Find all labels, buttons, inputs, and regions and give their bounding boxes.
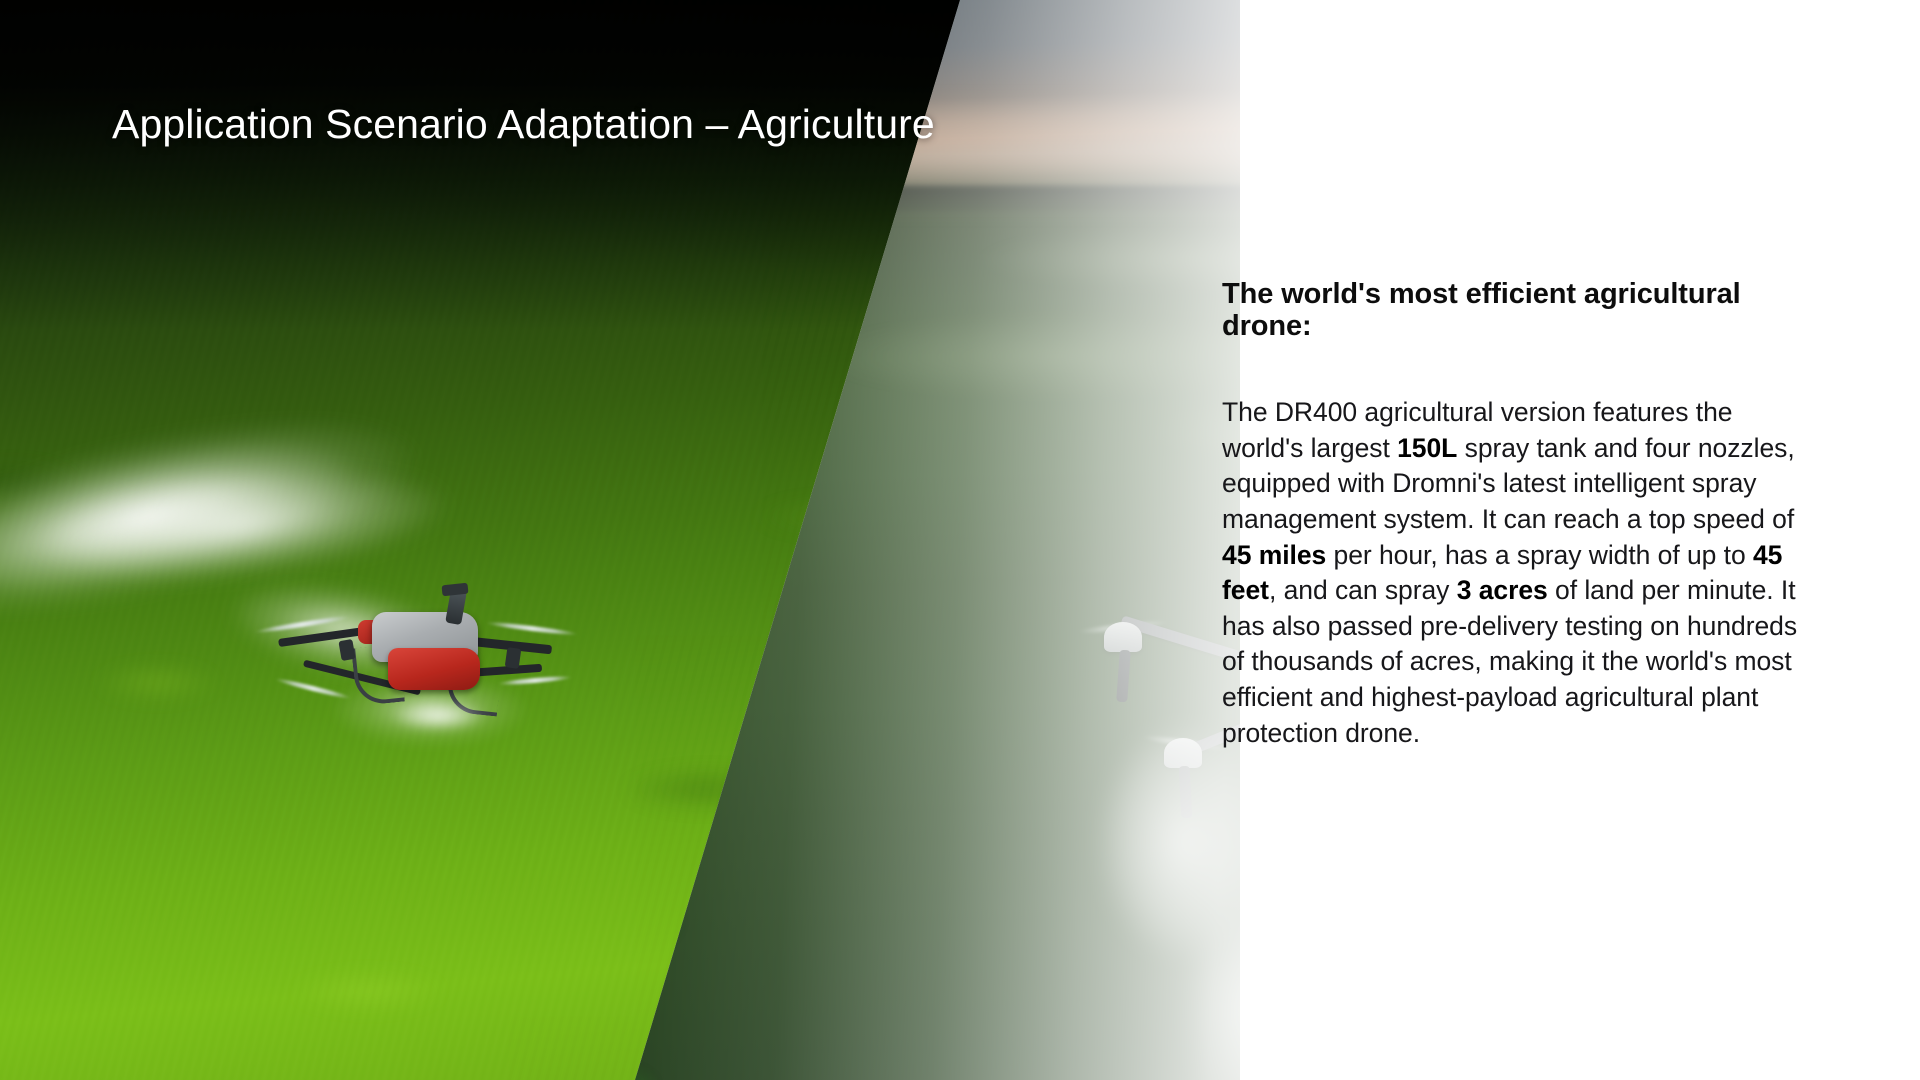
propeller-blur-icon (498, 675, 572, 686)
body-text: per hour, has a spray width of up to (1326, 540, 1753, 570)
drone-motor (1104, 622, 1142, 652)
spray-mist-plume-secondary (1150, 860, 1350, 1080)
emphasis-text: 3 acres (1457, 575, 1548, 605)
emphasis-text: 150L (1397, 433, 1457, 463)
slide-title: Application Scenario Adaptation – Agricu… (112, 102, 935, 147)
content-text-column: The world's most efficient agricultural … (1222, 278, 1812, 751)
nozzle-mist (374, 694, 504, 738)
content-paragraph: The DR400 agricultural version features … (1222, 395, 1812, 751)
drone-landing-leg (1116, 650, 1131, 703)
emphasis-text: 45 miles (1222, 540, 1326, 570)
presentation-slide: Application Scenario Adaptation – Agricu… (0, 0, 1920, 1080)
drone-spray-tank (388, 648, 480, 690)
content-heading: The world's most efficient agricultural … (1222, 278, 1812, 343)
spray-nozzle (338, 639, 355, 661)
propeller-blur-icon (275, 677, 352, 701)
spray-nozzle (505, 647, 522, 669)
agricultural-spray-drone-red (262, 582, 562, 732)
body-text: , and can spray (1269, 575, 1457, 605)
